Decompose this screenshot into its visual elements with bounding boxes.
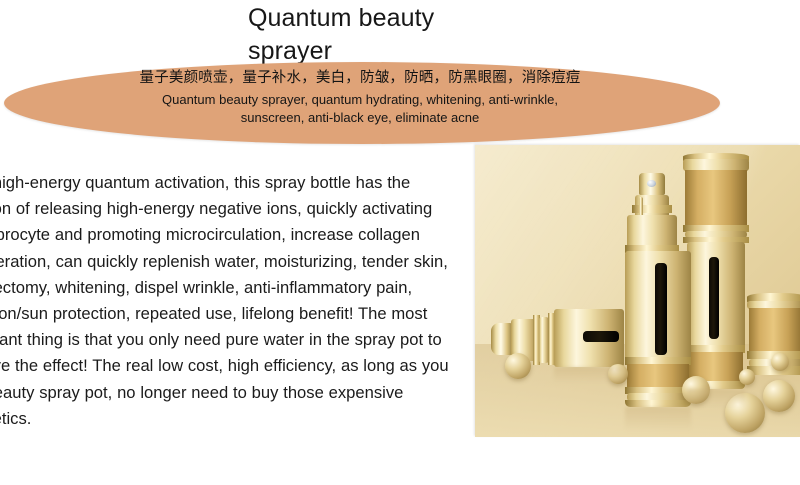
bottle-lying-nozzle bbox=[491, 323, 513, 355]
gold-sphere-1 bbox=[505, 353, 531, 379]
slide-canvas: Quantum beauty sprayer 量子美颜喷壶，量子补水，美白，防皱… bbox=[0, 0, 800, 485]
bottle-center-reflection bbox=[625, 407, 691, 431]
gold-sphere-7 bbox=[771, 353, 789, 371]
banner-ellipse-shape bbox=[4, 62, 720, 144]
bottle-center-cork bbox=[627, 364, 689, 388]
bottle-center-base-ring bbox=[625, 400, 691, 407]
bottle-back-cork bbox=[685, 170, 747, 226]
bottle-center-nozzle-dot bbox=[647, 180, 656, 187]
gold-sphere-6 bbox=[763, 380, 795, 412]
product-photo bbox=[475, 145, 800, 437]
bottle-back-reflection bbox=[687, 389, 745, 407]
jar-cork bbox=[749, 308, 800, 352]
bottle-back-window bbox=[709, 257, 719, 339]
bottle-center-window bbox=[655, 263, 667, 355]
page-title: Quantum beauty sprayer bbox=[248, 2, 578, 69]
body-paragraph: After high-energy quantum activation, th… bbox=[0, 170, 458, 432]
bottle-lying-reflection bbox=[554, 367, 624, 383]
bottle-lying-window bbox=[583, 331, 619, 342]
gold-sphere-4 bbox=[739, 369, 755, 385]
bottle-center-collar-ring bbox=[632, 205, 672, 213]
